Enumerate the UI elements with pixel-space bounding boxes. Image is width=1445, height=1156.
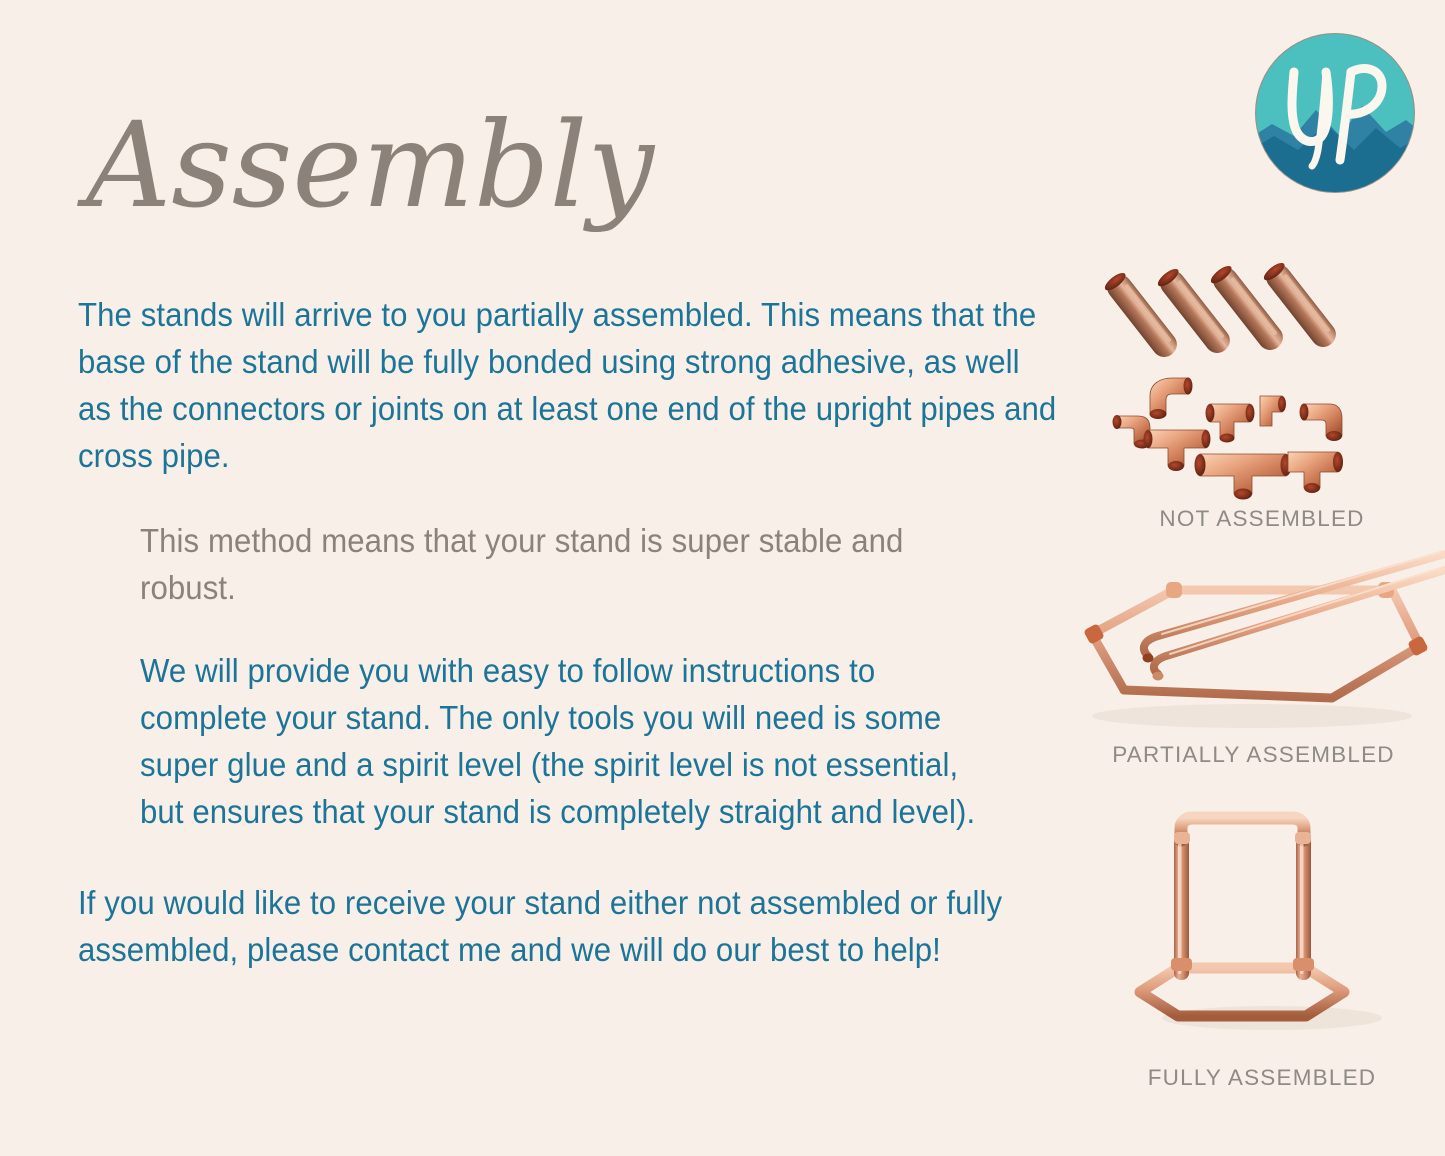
body-text-column: The stands will arrive to you partially … (78, 292, 1053, 974)
up-logo (1254, 32, 1416, 194)
figure-caption-not-assembled: NOT ASSEMBLED (1092, 506, 1432, 532)
tee-fitting (1206, 404, 1255, 443)
figure-not-assembled: NOT ASSEMBLED (1092, 252, 1432, 532)
figure-partially-assembled: PARTIALLY ASSEMBLED (1062, 548, 1445, 768)
paragraph-intro: The stands will arrive to you partially … (78, 292, 1059, 480)
figure-caption-fully-assembled: FULLY ASSEMBLED (1092, 1065, 1432, 1091)
upright-highlights (1178, 834, 1304, 974)
elbow-fitting (1300, 404, 1343, 442)
paragraph-instructions: We will provide you with easy to follow … (140, 648, 996, 836)
paragraph-method: This method means that your stand is sup… (140, 518, 996, 612)
paragraph-contact: If you would like to receive your stand … (78, 880, 1008, 974)
figure-fully-assembled: FULLY ASSEMBLED (1092, 806, 1432, 1091)
stand-top-bar (1181, 818, 1304, 840)
page-title: Assembly (78, 78, 698, 258)
stand-joints (1171, 832, 1314, 971)
elbow-fitting (1150, 378, 1193, 420)
figure-caption-partially-assembled: PARTIALLY ASSEMBLED (1062, 742, 1445, 768)
stand-uprights (1174, 830, 1311, 980)
loose-pipes-group (1102, 260, 1340, 362)
pipe-bore (1153, 672, 1164, 681)
elbow-fitting (1260, 396, 1286, 426)
tee-fitting (1288, 452, 1343, 493)
tee-fitting (1195, 454, 1292, 500)
page-title-text: Assembly (77, 96, 655, 234)
loose-fittings-group (1113, 378, 1344, 500)
pipe-bore (1143, 654, 1154, 663)
